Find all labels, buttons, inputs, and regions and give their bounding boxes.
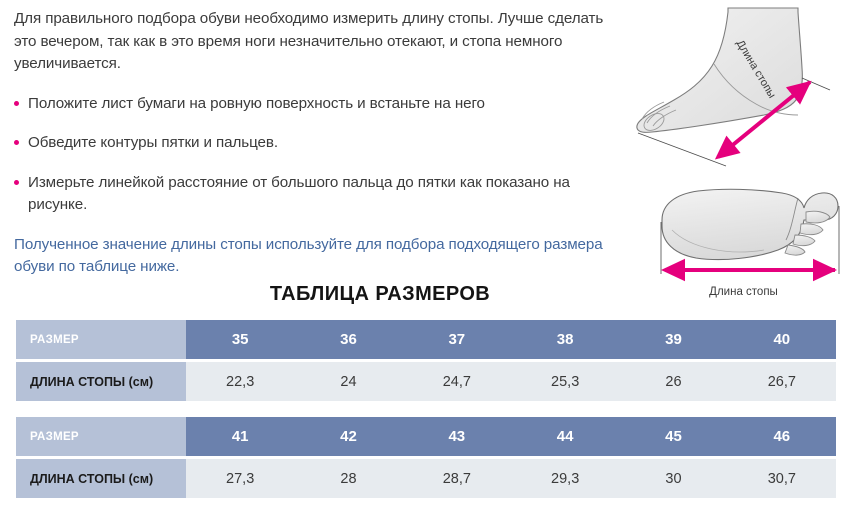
bullet-dot-icon bbox=[14, 140, 19, 145]
header-label-cell: РАЗМЕР bbox=[16, 417, 186, 456]
header-size-cell: 41 bbox=[186, 417, 294, 456]
data-label-cell: ДЛИНА СТОПЫ (см) bbox=[16, 362, 186, 401]
bullet-text: Обведите контуры пятки и пальцев. bbox=[28, 132, 278, 155]
data-value-cell: 30 bbox=[619, 459, 727, 498]
header-size-cell: 43 bbox=[403, 417, 511, 456]
instructions-panel: Для правильного подбора обуви необходимо… bbox=[14, 8, 614, 279]
data-value-cell: 25,3 bbox=[511, 362, 619, 401]
data-value-cell: 24 bbox=[294, 362, 402, 401]
list-item: Обведите контуры пятки и пальцев. bbox=[14, 132, 614, 155]
table-row-data: ДЛИНА СТОПЫ (см) 22,3 24 24,7 25,3 26 26… bbox=[16, 362, 836, 401]
bullet-text: Положите лист бумаги на ровную поверхнос… bbox=[28, 93, 485, 116]
header-label-cell: РАЗМЕР bbox=[16, 320, 186, 359]
size-table-eu-41-46: РАЗМЕР 41 42 43 44 45 46 ДЛИНА СТОПЫ (см… bbox=[16, 417, 836, 498]
table-row-data: ДЛИНА СТОПЫ (см) 27,3 28 28,7 29,3 30 30… bbox=[16, 459, 836, 498]
header-size-cell: 40 bbox=[728, 320, 836, 359]
header-size-cell: 42 bbox=[294, 417, 402, 456]
data-value-cell: 26,7 bbox=[728, 362, 836, 401]
foot-sole-view-illustration bbox=[636, 182, 851, 290]
data-value-cell: 29,3 bbox=[511, 459, 619, 498]
header-size-cell: 38 bbox=[511, 320, 619, 359]
data-value-cell: 27,3 bbox=[186, 459, 294, 498]
data-value-cell: 22,3 bbox=[186, 362, 294, 401]
bullet-text: Измерьте линейкой расстояние от большого… bbox=[28, 172, 614, 217]
header-size-cell: 35 bbox=[186, 320, 294, 359]
closing-paragraph: Полученное значение длины стопы использу… bbox=[14, 234, 614, 279]
data-value-cell: 28 bbox=[294, 459, 402, 498]
data-value-cell: 28,7 bbox=[403, 459, 511, 498]
header-size-cell: 39 bbox=[619, 320, 727, 359]
header-size-cell: 46 bbox=[728, 417, 836, 456]
bullet-dot-icon bbox=[14, 101, 19, 106]
list-item: Измерьте линейкой расстояние от большого… bbox=[14, 172, 614, 217]
foot-silhouette bbox=[637, 8, 802, 134]
size-table-eu-35-40: РАЗМЕР 35 36 37 38 39 40 ДЛИНА СТОПЫ (см… bbox=[16, 320, 836, 401]
data-value-cell: 26 bbox=[619, 362, 727, 401]
guide-line-toe bbox=[638, 133, 726, 166]
header-size-cell: 45 bbox=[619, 417, 727, 456]
data-label-cell: ДЛИНА СТОПЫ (см) bbox=[16, 459, 186, 498]
data-value-cell: 30,7 bbox=[728, 459, 836, 498]
header-size-cell: 37 bbox=[403, 320, 511, 359]
data-value-cell: 24,7 bbox=[403, 362, 511, 401]
bullet-dot-icon bbox=[14, 180, 19, 185]
sole-silhouette bbox=[662, 189, 838, 259]
table-row-header: РАЗМЕР 41 42 43 44 45 46 bbox=[16, 417, 836, 456]
header-size-cell: 36 bbox=[294, 320, 402, 359]
foot-side-view-illustration bbox=[606, 2, 851, 182]
list-item: Положите лист бумаги на ровную поверхнос… bbox=[14, 93, 614, 116]
header-size-cell: 44 bbox=[511, 417, 619, 456]
table-row-header: РАЗМЕР 35 36 37 38 39 40 bbox=[16, 320, 836, 359]
sole-view-measure-label: Длина стопы bbox=[636, 286, 851, 298]
intro-paragraph: Для правильного подбора обуви необходимо… bbox=[14, 8, 614, 76]
